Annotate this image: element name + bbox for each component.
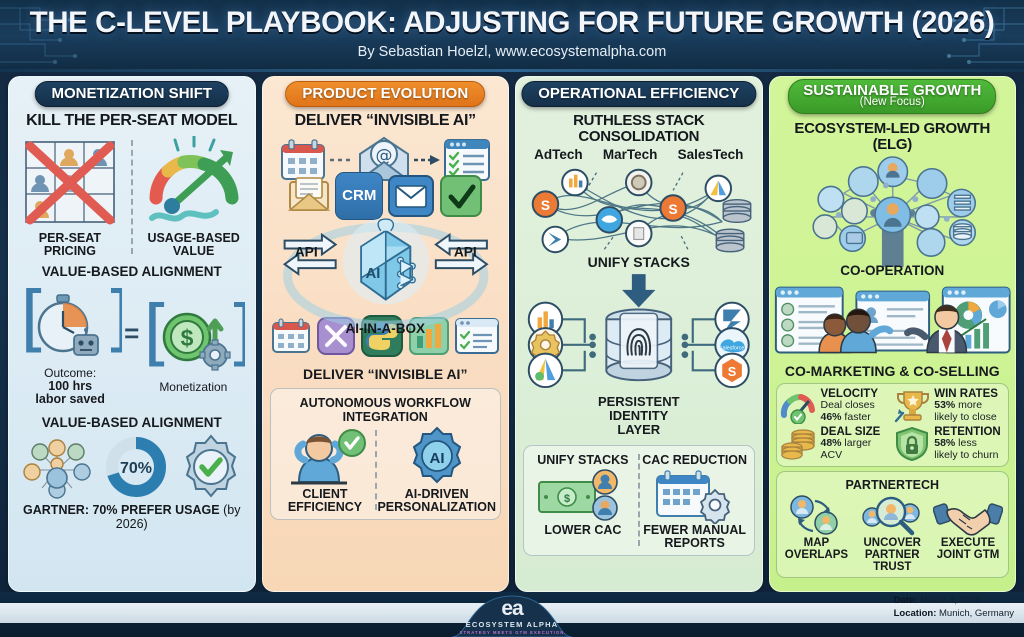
partnertech-box: PARTNERTECH MAPOVERLAPS	[776, 471, 1010, 579]
network-tree-icon	[770, 155, 1016, 267]
dollar-coin-gear-up-arrow-icon: [ ] $	[141, 299, 245, 381]
column-3-pill: OPERATIONAL EFFICIENCY	[521, 81, 756, 107]
donut-value-label: 70%	[120, 460, 152, 477]
stat-retention-line2: likely to churn	[934, 450, 1000, 461]
ai-gear-brain-icon: AI	[404, 426, 470, 488]
column-3-pill-label: OPERATIONAL EFFICIENCY	[538, 85, 739, 102]
stats-grid: VELOCITY Deal closes 46% faster	[776, 383, 1010, 467]
coin-stack-icon	[780, 426, 818, 462]
people-network-icon	[20, 434, 94, 500]
stat-win-rates: WIN RATES 53% more likely to close	[893, 388, 1005, 424]
ai-personalization-caption: AI-DRIVENPERSONALIZATION	[377, 488, 496, 515]
per-seat-block: PER-SEATPRICING	[9, 136, 131, 259]
stat-win-rates-line2: likely to close	[934, 412, 998, 423]
header-divider	[0, 69, 1024, 72]
column-4-band-1: CO-OPERATION	[770, 263, 1016, 278]
equation-operator: =	[124, 318, 139, 349]
cac-box: UNIFY STACKS $ LOWER CAC	[523, 445, 755, 557]
column-2-pill-label: PRODUCT EVOLUTION	[302, 85, 468, 102]
crm-badge-label: CRM	[342, 187, 376, 204]
poster-header: THE C-LEVEL PLAYBOOK: ADJUSTING FOR FUTU…	[0, 0, 1024, 72]
svg-text:AI: AI	[429, 450, 444, 467]
footer-logo: ea ECOSYSTEM ALPHA STRATEGY MEETS GTM EX…	[452, 598, 572, 635]
partner-item-map-overlaps: MAPOVERLAPS	[779, 493, 855, 561]
partner-caption-map: MAPOVERLAPS	[785, 537, 848, 561]
lower-cac-caption: LOWER CAC	[544, 524, 621, 537]
partner-caption-trust: UNCOVERPARTNER TRUST	[854, 537, 930, 574]
stack-labels-row: AdTech MarTech SalesTech	[516, 147, 762, 162]
column-1-headline: KILL THE PER-SEAT MODEL	[13, 113, 251, 130]
gauge-growth-arrow-icon	[142, 136, 246, 232]
svg-text:]: ]	[227, 299, 245, 374]
svg-text:S: S	[728, 364, 737, 379]
down-arrow-icon	[622, 274, 655, 307]
monetization-label: Monetization	[159, 381, 227, 394]
stat-deal-size-line2: ACV	[821, 450, 881, 461]
column-2-band-1: DELIVER “INVISIBLE AI”	[263, 366, 509, 382]
stat-velocity-line2: 46% faster	[821, 412, 879, 423]
ai-in-a-box-label: AI-IN-A-BOX	[263, 321, 509, 336]
api-label-right: API	[453, 244, 476, 259]
column-3-band-1: UNIFY STACKS	[516, 254, 762, 270]
svg-text:S: S	[669, 201, 678, 216]
crm-badge: CRM	[335, 172, 383, 220]
column-2-band-2: AUTONOMOUS WORKFLOW INTEGRATION	[275, 396, 497, 424]
column-4-band-2: CO-MARKETING & CO-SELLING	[770, 363, 1016, 379]
persistent-identity-caption: PERSISTENTIDENTITYLAYER	[516, 395, 762, 437]
autonomous-workflow-box: AUTONOMOUS WORKFLOW INTEGRATION	[270, 388, 502, 521]
logo-tagline: STRATEGY MEETS GTM EXECUTION	[452, 630, 572, 635]
green-check-icon	[439, 172, 483, 220]
trophy-icon	[893, 388, 931, 424]
client-efficiency-caption: CLIENTEFFICIENCY	[288, 488, 362, 515]
unify-stacks-title: UNIFY STACKS	[537, 453, 628, 467]
ai-in-a-box-area: AI API API	[263, 216, 509, 334]
stat-deal-size-line1: 48% larger	[821, 438, 881, 449]
column-2-headline: DELIVER “INVISIBLE AI”	[267, 113, 505, 130]
column-3-headline: RUTHLESS STACK CONSOLIDATION	[520, 113, 758, 145]
stat-velocity: VELOCITY Deal closes 46% faster	[780, 388, 892, 424]
column-1-band-1: VALUE-BASED ALIGNMENT	[9, 264, 255, 279]
footer-meta: Date: March 4, 2026 Location: Munich, Ge…	[894, 595, 1014, 621]
svg-text:$: $	[564, 493, 570, 505]
tangled-saas-network-icon: S S	[516, 162, 762, 258]
monetization-block: [ ] $	[141, 299, 245, 394]
mail-open-icon	[287, 176, 331, 216]
donut-chart-70-icon: 70%	[104, 435, 168, 499]
stat-deal-size: DEAL SIZE 48% larger ACV	[780, 426, 892, 462]
outcome-label-3: labor saved	[35, 393, 104, 406]
columns-container: MONETIZATION SHIFT KILL THE PER-SEAT MOD…	[0, 76, 1024, 592]
svg-text:]: ]	[104, 285, 122, 360]
outcome-block: [ ] Outcome: 100 hrs labor sav	[18, 285, 122, 406]
page-title: THE C-LEVEL PLAYBOOK: ADJUSTING FOR FUTU…	[0, 6, 1024, 40]
unify-stacks-block: UNIFY STACKS $ LOWER CAC	[528, 450, 638, 551]
ai-personalization-block: AI AI-DRIVENPERSONALIZATION	[377, 426, 496, 515]
svg-text:S: S	[541, 198, 550, 213]
column-1-pill-label: MONETIZATION SHIFT	[51, 85, 212, 102]
partner-item-joint-gtm: EXECUTEJOINT GTM	[930, 493, 1006, 561]
stat-retention: RETENTION 58% less likely to churn	[893, 426, 1005, 462]
gartner-stat: GARTNER: 70% PREFER USAGE (by 2026)	[9, 503, 255, 531]
column-product-evolution: PRODUCT EVOLUTION DELIVER “INVISIBLE AI”	[262, 76, 510, 592]
cac-reduction-block: CAC REDUCTION	[640, 450, 750, 551]
footer-location: Location: Munich, Germany	[894, 608, 1014, 621]
footer-date: Date: March 4, 2026	[894, 595, 1014, 608]
cash-users-icon: $	[535, 468, 631, 524]
column-4-pill-sublabel: (New Focus)	[803, 97, 981, 109]
column-1-band-2: VALUE-BASED ALIGNMENT	[9, 415, 255, 430]
column-2-pill: PRODUCT EVOLUTION	[285, 81, 485, 107]
client-efficiency-block: CLIENTEFFICIENCY	[275, 426, 376, 515]
svg-text:$: $	[181, 325, 194, 351]
stack-label-salestech: SalesTech	[678, 147, 744, 162]
column-monetization-shift: MONETIZATION SHIFT KILL THE PER-SEAT MOD…	[8, 76, 256, 592]
relaxed-person-check-icon	[281, 426, 369, 488]
stack-label-adtech: AdTech	[534, 147, 583, 162]
outcome-label-2: 100 hrs	[48, 380, 92, 393]
stopwatch-robot-icon: [ ]	[18, 285, 122, 367]
calendar-gear-icon	[653, 468, 737, 524]
logo-mark: ea	[452, 598, 572, 619]
logo-name: ECOSYSTEM ALPHA	[452, 620, 572, 629]
partners-dashboards-icon	[770, 279, 1016, 369]
stack-label-martech: MarTech	[603, 147, 658, 162]
partner-item-uncover-trust: UNCOVERPARTNER TRUST	[854, 493, 930, 574]
column-1-pill: MONETIZATION SHIFT	[34, 81, 229, 107]
dotted-connector-icon	[329, 155, 355, 165]
ai-cube-orbit: AI API API	[263, 216, 509, 334]
arrow-right-icon	[413, 154, 441, 166]
svg-text:salesforce: salesforce	[720, 345, 745, 351]
gear-check-icon	[178, 434, 244, 500]
column-sustainable-growth: SUSTAINABLE GROWTH (New Focus) ECOSYSTEM…	[769, 76, 1017, 592]
persistent-identity-diagram: salesforce S	[516, 271, 762, 399]
usage-value-block: USAGE-BASEDVALUE	[133, 136, 255, 259]
column-4-band-3: PARTNERTECH	[779, 478, 1007, 492]
page-subtitle: By Sebastian Hoelzl, www.ecosystemalpha.…	[0, 44, 1024, 60]
database-fingerprint-icon	[606, 309, 671, 380]
magnifier-users-icon	[856, 493, 928, 537]
cac-reduction-title: CAC REDUCTION	[642, 453, 747, 467]
stat-retention-line1: 58% less	[934, 438, 1000, 449]
column-4-pill: SUSTAINABLE GROWTH (New Focus)	[788, 79, 996, 114]
two-users-swap-icon	[783, 493, 849, 537]
svg-text:AI: AI	[365, 266, 380, 282]
handshake-icon	[933, 493, 1003, 537]
envelope-icon	[387, 172, 435, 220]
gartner-stat-bold: GARTNER: 70% PREFER USAGE	[23, 503, 220, 517]
shield-lock-icon	[893, 426, 931, 462]
crossed-out-seat-grid-icon	[18, 136, 122, 232]
column-operational-efficiency: OPERATIONAL EFFICIENCY RUTHLESS STACK CO…	[515, 76, 763, 592]
usage-value-caption: USAGE-BASEDVALUE	[147, 232, 239, 259]
stat-win-rates-line1: 53% more	[934, 400, 998, 411]
per-seat-caption: PER-SEATPRICING	[39, 232, 101, 259]
fewer-reports-caption: FEWER MANUALREPORTS	[643, 524, 746, 551]
partner-caption-gtm: EXECUTEJOINT GTM	[937, 537, 1000, 561]
column-4-headline: ECOSYSTEM-LED GROWTH (ELG)	[774, 121, 1012, 153]
api-label-left: API	[294, 244, 317, 259]
speed-gauge-check-icon	[780, 388, 818, 424]
infographic-poster: THE C-LEVEL PLAYBOOK: ADJUSTING FOR FUTU…	[0, 0, 1024, 637]
poster-footer: ea ECOSYSTEM ALPHA STRATEGY MEETS GTM EX…	[0, 592, 1024, 637]
